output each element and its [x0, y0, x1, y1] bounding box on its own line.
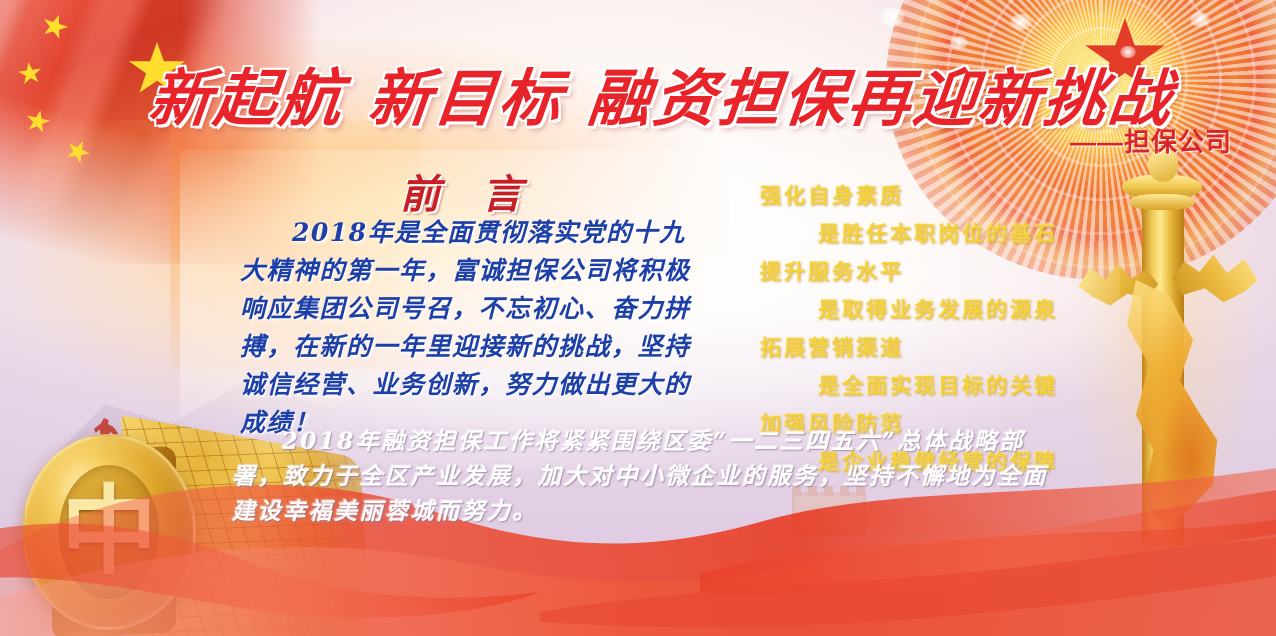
poster-content: 新起航 新目标 融资担保再迎新挑战 ——担保公司 前 言 2018年是全面贯彻落…	[0, 0, 1276, 636]
slogan-item: 拓展营销渠道 是全面实现目标的关键	[760, 330, 1090, 406]
promotional-poster: 中	[0, 0, 1276, 636]
slogan-bottom-line: 是取得业务发展的源泉	[760, 292, 1090, 330]
poster-attribution: ——担保公司	[1070, 122, 1232, 159]
slogan-item: 提升服务水平 是取得业务发展的源泉	[760, 254, 1090, 330]
preface-paragraph: 2018年是全面贯彻落实党的十九大精神的第一年，富诚担保公司将积极响应集团公司号…	[240, 214, 692, 442]
slogan-bottom-line: 是全面实现目标的关键	[760, 368, 1090, 406]
preface-heading: 前 言	[400, 162, 536, 220]
footer-paragraph: 2018年融资担保工作将紧紧围绕区委“一二三四五六”总体战略部署，致力于全区产业…	[232, 424, 1070, 529]
slogan-top-line: 强化自身素质	[760, 178, 1090, 216]
slogan-bottom-line: 是胜任本职岗位的基石	[760, 216, 1090, 254]
slogan-top-line: 拓展营销渠道	[760, 330, 1090, 368]
page-title: 新起航 新目标 融资担保再迎新挑战	[145, 48, 1214, 138]
slogan-top-line: 提升服务水平	[760, 254, 1090, 292]
slogan-item: 强化自身素质 是胜任本职岗位的基石	[760, 178, 1090, 254]
